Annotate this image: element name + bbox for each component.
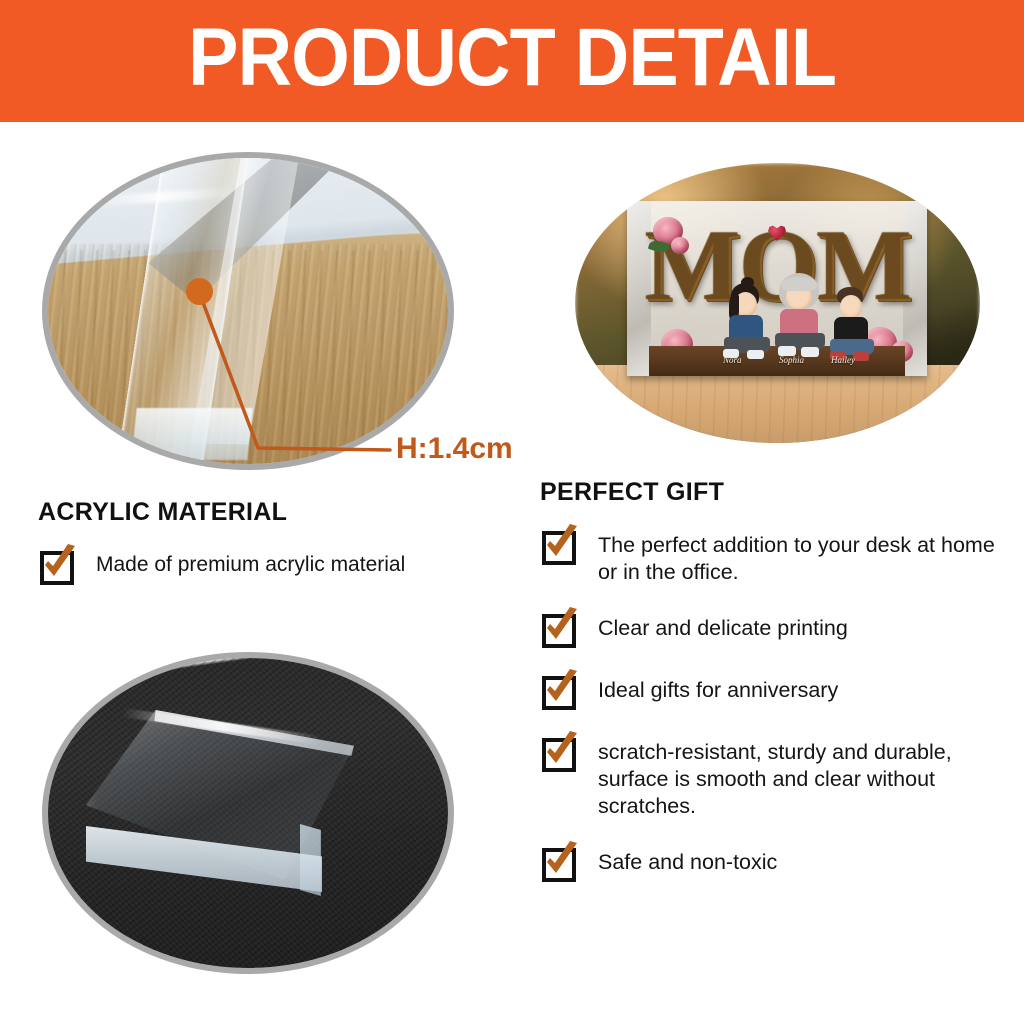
slate-background (48, 658, 448, 968)
checkbox-checked (540, 840, 582, 882)
feature-item: Clear and delicate printing (540, 606, 1002, 648)
person-name-1: Nora (723, 355, 742, 365)
acrylic-block-on-slate-photo (48, 658, 448, 968)
checkbox-checked (540, 730, 582, 772)
mom-plaque-product-photo: MOM (575, 163, 980, 443)
feature-item: The perfect addition to your desk at hom… (540, 523, 1002, 586)
acrylic-material-section: ACRYLIC MATERIAL Made of premium acrylic… (38, 498, 518, 607)
perfect-gift-heading: PERFECT GIFT (540, 478, 1002, 507)
check-icon (540, 668, 582, 710)
checkbox-checked (540, 668, 582, 710)
check-icon (540, 606, 582, 648)
check-icon (540, 523, 582, 565)
figure-son (825, 287, 879, 359)
check-icon (540, 730, 582, 772)
page-title: PRODUCT DETAIL (188, 17, 836, 105)
checkbox-checked (540, 606, 582, 648)
acrylic-material-heading: ACRYLIC MATERIAL (38, 498, 518, 527)
feature-item: Safe and non-toxic (540, 840, 1002, 882)
feature-item: scratch-resistant, sturdy and durable, s… (540, 730, 1002, 820)
feature-label: Safe and non-toxic (598, 840, 777, 876)
check-icon (540, 840, 582, 882)
checkbox-checked (540, 523, 582, 565)
feature-item: Ideal gifts for anniversary (540, 668, 1002, 710)
person-name-2: Sophia (779, 355, 804, 365)
figure-daughter (719, 283, 775, 359)
feature-label: The perfect addition to your desk at hom… (598, 523, 1002, 586)
feature-label: scratch-resistant, sturdy and durable, s… (598, 730, 1002, 820)
face (840, 295, 862, 319)
height-dimension-label: H:1.4cm (396, 432, 513, 466)
page-header-banner: PRODUCT DETAIL (0, 0, 1024, 122)
person-name-3: Hailey (831, 355, 855, 365)
figure-mom (769, 273, 831, 359)
rose-decoration (671, 237, 689, 254)
shoe (853, 352, 869, 361)
hair-bun (741, 277, 754, 288)
perfect-gift-section: PERFECT GIFT The perfect addition to you… (540, 478, 1002, 902)
wooden-table-surface (575, 365, 980, 443)
shoe (747, 350, 764, 359)
hair-fringe (781, 277, 817, 291)
feature-label: Clear and delicate printing (598, 606, 848, 642)
feature-label: Made of premium acrylic material (96, 543, 405, 578)
feature-label: Ideal gifts for anniversary (598, 668, 838, 704)
callout-anchor-dot (186, 278, 213, 305)
check-icon (38, 543, 80, 585)
feature-item: Made of premium acrylic material (38, 543, 518, 585)
acrylic-plaque: MOM (627, 201, 927, 376)
checkbox-checked (38, 543, 80, 585)
